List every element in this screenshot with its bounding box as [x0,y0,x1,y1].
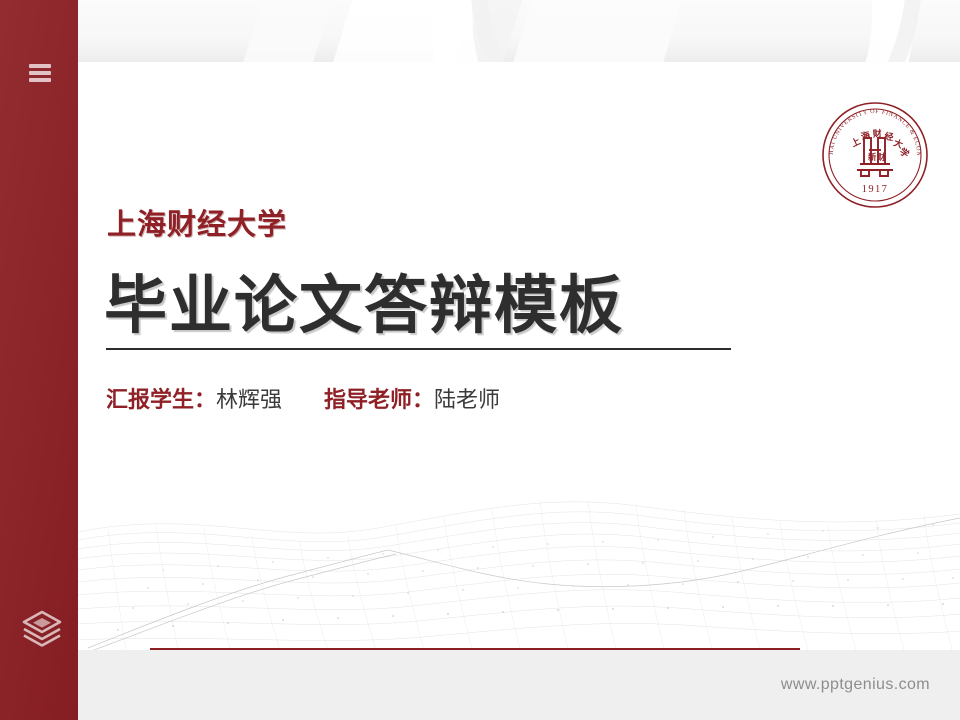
student-label: 汇报学生： [106,387,216,412]
accent-underbar [150,648,800,650]
university-name-heading: 上海财经大学 [107,201,287,243]
footer-website-url[interactable]: www.pptgenius.com [781,676,930,694]
hamburger-bar-2 [29,71,51,75]
title-divider [106,348,731,350]
layers-stack-icon[interactable] [20,608,64,648]
university-seal-logo: SHANGHAI UNIVERSITY OF FINANCE & ECONOMI… [820,100,930,210]
wireframe-mesh-graphic [78,480,960,650]
svg-text:1917: 1917 [862,184,889,195]
presenter-meta-line: 汇报学生：林辉强指导老师：陆老师 [106,382,500,414]
swoosh-curve-2 [470,0,922,66]
hamburger-bar-3 [29,78,51,82]
svg-text:财: 财 [876,152,886,162]
top-decorative-band [0,0,960,66]
hamburger-bar-1 [29,64,51,68]
advisor-name: 陆老师 [434,387,500,412]
hamburger-icon[interactable] [29,64,51,82]
advisor-label: 指导老师： [324,387,434,412]
page-title: 毕业论文答辩模板 [104,255,624,346]
presentation-slide: SHANGHAI UNIVERSITY OF FINANCE & ECONOMI… [0,0,960,720]
svg-text:新: 新 [868,152,877,162]
student-name: 林辉强 [216,387,282,412]
slide-content-card: SHANGHAI UNIVERSITY OF FINANCE & ECONOMI… [78,62,960,650]
